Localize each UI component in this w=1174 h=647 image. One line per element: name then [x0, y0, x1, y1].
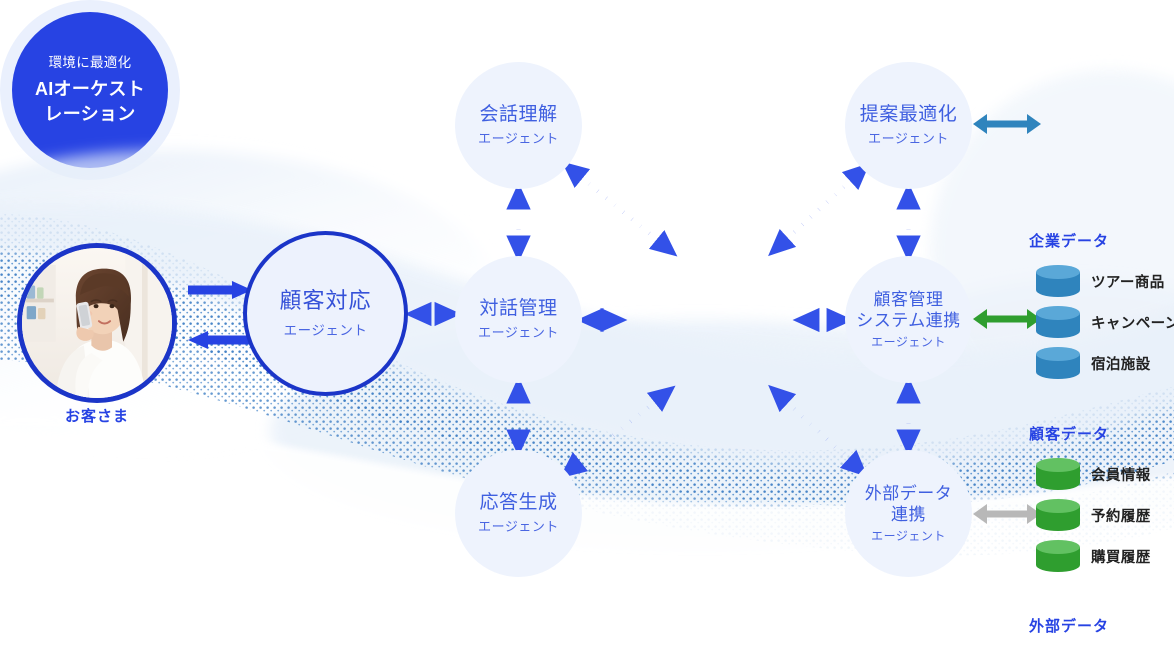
link-orchestrator-proposal [778, 172, 860, 247]
data-group-title: 企業データ [1029, 230, 1109, 251]
node-title: 応答生成 [479, 491, 557, 515]
node-response-generation-agent[interactable]: 応答生成 エージェント [455, 450, 582, 577]
link-orchestrator-external [778, 394, 858, 468]
data-group-title: 顧客データ [1029, 423, 1109, 444]
node-title: 提案最適化 [860, 103, 958, 127]
node-external-data-agent[interactable]: 外部データ 連携 エージェント [845, 450, 972, 577]
db-label: ツアー商品 [1091, 271, 1165, 292]
db-item[interactable]: 会員情報 [1036, 458, 1151, 490]
db-item[interactable]: ツアー商品 [1036, 265, 1165, 297]
node-title: 顧客対応 [279, 287, 371, 315]
db-label: 予約履歴 [1091, 505, 1151, 526]
node-role: エージェント [871, 529, 946, 544]
database-cylinder-icon [1036, 499, 1080, 531]
orchestrator-title-line2: レーション [44, 102, 135, 126]
node-customer-facing-agent[interactable]: 顧客対応 エージェント [243, 231, 408, 396]
data-group-title: 外部データ [1029, 615, 1109, 636]
database-cylinder-icon [1036, 306, 1080, 338]
link-agent-to-customer [188, 331, 252, 349]
node-ai-orchestration[interactable]: 環境に最適化 AIオーケスト レーション [0, 0, 180, 180]
node-title-line1: 顧客管理 [874, 289, 944, 311]
node-conversation-understanding-agent[interactable]: 会話理解 エージェント [455, 62, 582, 189]
database-cylinder-icon [1036, 540, 1080, 572]
db-label: キャンペーン情報 [1091, 312, 1174, 333]
arrow-customer-data [973, 309, 1041, 329]
node-crm-integration-agent[interactable]: 顧客管理 システム連携 エージェント [845, 256, 972, 383]
link-conversation-orchestrator [572, 170, 667, 248]
node-proposal-optimization-agent[interactable]: 提案最適化 エージェント [845, 62, 972, 189]
node-role: エージェント [478, 131, 559, 148]
database-cylinder-icon [1036, 458, 1080, 490]
node-role: エージェント [284, 322, 368, 339]
node-title-line2: 連携 [891, 504, 926, 526]
orchestrator-title-line1: AIオーケスト [35, 77, 145, 101]
database-cylinder-icon [1036, 265, 1080, 297]
node-role: エージェント [478, 325, 559, 342]
database-cylinder-icon [1036, 347, 1080, 379]
node-role: エージェント [871, 335, 946, 350]
orchestrator-subtitle: 環境に最適化 [49, 54, 132, 72]
arrow-enterprise-data [973, 114, 1041, 134]
node-dialog-management-agent[interactable]: 対話管理 エージェント [455, 256, 582, 383]
node-title-line1: 外部データ [865, 483, 953, 505]
db-label: 宿泊施設 [1091, 353, 1151, 374]
db-label: 会員情報 [1091, 464, 1151, 485]
link-response-orchestrator [570, 394, 665, 470]
link-customer-to-agent [188, 281, 252, 299]
node-title: 会話理解 [479, 103, 557, 127]
woman-on-phone-photo [22, 248, 172, 398]
db-item[interactable]: 購買履歴 [1036, 540, 1151, 572]
customer-label: お客さま [17, 405, 177, 426]
node-title: 対話管理 [479, 297, 557, 321]
customer-avatar [17, 243, 177, 403]
node-role: エージェント [868, 131, 949, 148]
db-item[interactable]: 予約履歴 [1036, 499, 1151, 531]
db-label: 購買履歴 [1091, 546, 1151, 567]
node-role: エージェント [478, 519, 559, 536]
db-item[interactable]: 宿泊施設 [1036, 347, 1151, 379]
orchestrator-core: 環境に最適化 AIオーケスト レーション [12, 12, 168, 168]
db-item[interactable]: キャンペーン情報 [1036, 306, 1174, 338]
arrow-external-data [973, 504, 1041, 524]
diagram-canvas: お客さま 顧客対応 エージェント 会話理解 エージェント 対話管理 エージェント… [0, 0, 1174, 647]
node-title-line2: システム連携 [856, 310, 961, 332]
